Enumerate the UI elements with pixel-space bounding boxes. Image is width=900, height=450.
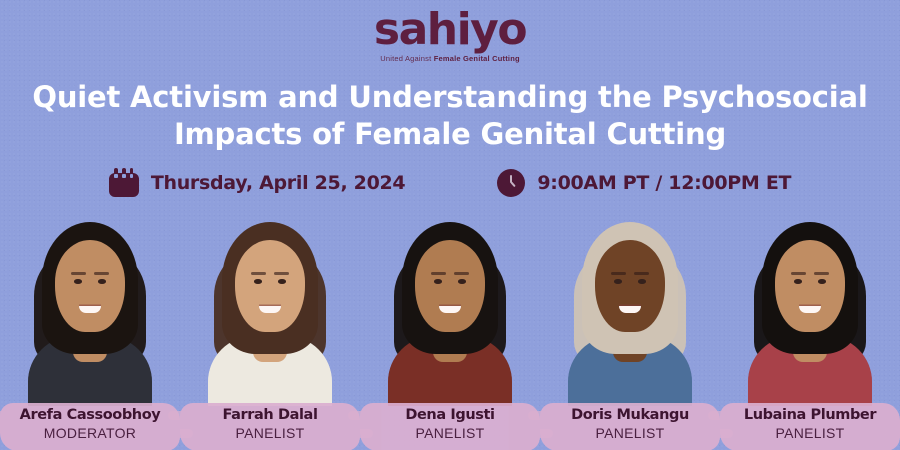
speaker-portrait	[747, 220, 873, 406]
speaker-card: Farrah DalalPANELIST	[180, 216, 360, 450]
speaker-name-plate: Doris MukanguPANELIST	[544, 406, 716, 442]
event-time-item: 9:00AM PT / 12:00PM ET	[497, 169, 791, 197]
event-date-item: Thursday, April 25, 2024	[109, 168, 406, 197]
speaker-portrait	[207, 220, 333, 406]
sahiyo-tagline: United Against Female Genital Cutting	[0, 55, 900, 63]
speaker-card: Arefa CassoobhoyMODERATOR	[0, 216, 180, 450]
speaker-name-plate: Arefa CassoobhoyMODERATOR	[4, 406, 176, 442]
tagline-light-text: United Against	[380, 54, 433, 63]
calendar-icon	[109, 168, 139, 197]
speaker-role: MODERATOR	[4, 424, 176, 442]
speaker-name: Doris Mukangu	[544, 406, 716, 424]
speaker-name: Farrah Dalal	[184, 406, 356, 424]
clock-icon	[497, 169, 525, 197]
speaker-name-plate: Lubaina PlumberPANELIST	[724, 406, 896, 442]
speaker-name-plate: Farrah DalalPANELIST	[184, 406, 356, 442]
sahiyo-wordmark: sahiyo	[374, 8, 526, 52]
speaker-name: Arefa Cassoobhoy	[4, 406, 176, 424]
event-meta-row: Thursday, April 25, 2024 9:00AM PT / 12:…	[0, 168, 900, 197]
speaker-row: Arefa CassoobhoyMODERATORFarrah DalalPAN…	[0, 216, 900, 450]
speaker-portrait	[27, 220, 153, 406]
event-title-line-2: Impacts of Female Genital Cutting	[0, 116, 900, 153]
speaker-name: Dena Igusti	[364, 406, 536, 424]
speaker-role: PANELIST	[184, 424, 356, 442]
speaker-portrait	[387, 220, 513, 406]
event-date-text: Thursday, April 25, 2024	[151, 172, 406, 194]
speaker-portrait	[567, 220, 693, 406]
speaker-role: PANELIST	[364, 424, 536, 442]
event-time-text: 9:00AM PT / 12:00PM ET	[537, 172, 791, 194]
speaker-name: Lubaina Plumber	[724, 406, 896, 424]
speaker-name-plate: Dena IgustiPANELIST	[364, 406, 536, 442]
event-poster: sahiyo United Against Female Genital Cut…	[0, 0, 900, 450]
speaker-role: PANELIST	[724, 424, 896, 442]
speaker-role: PANELIST	[544, 424, 716, 442]
speaker-card: Lubaina PlumberPANELIST	[720, 216, 900, 450]
event-title: Quiet Activism and Understanding the Psy…	[0, 79, 900, 153]
event-title-line-1: Quiet Activism and Understanding the Psy…	[0, 79, 900, 116]
speaker-card: Dena IgustiPANELIST	[360, 216, 540, 450]
sahiyo-logo: sahiyo United Against Female Genital Cut…	[0, 8, 900, 63]
tagline-bold-text: Female Genital Cutting	[434, 54, 520, 63]
speaker-card: Doris MukanguPANELIST	[540, 216, 720, 450]
